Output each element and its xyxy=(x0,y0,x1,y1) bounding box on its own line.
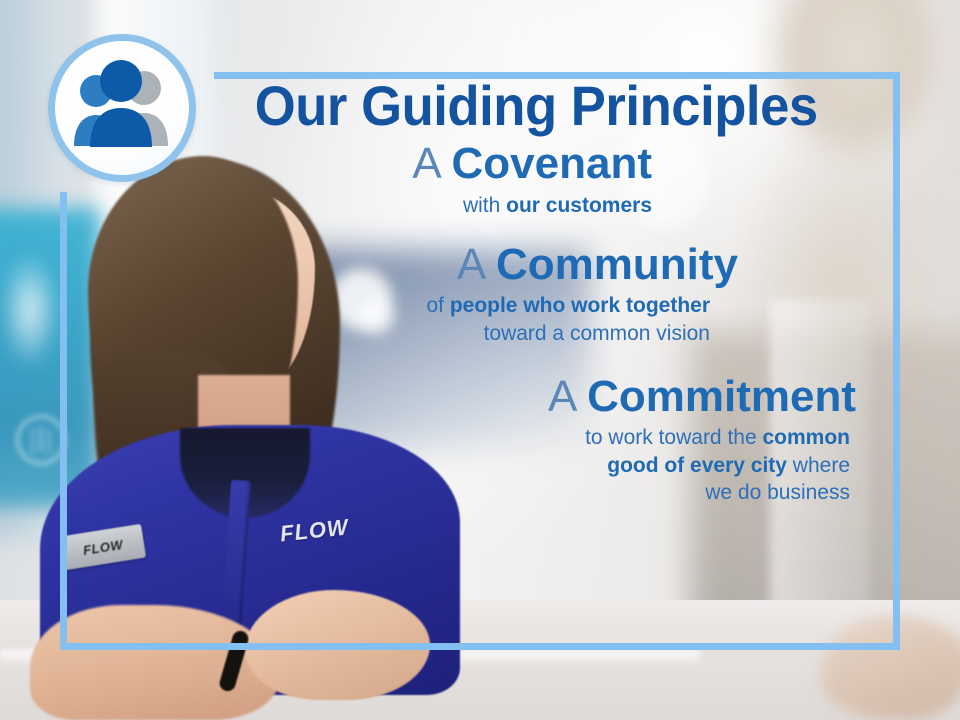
principle-keyword: Covenant xyxy=(452,139,652,188)
principle-subtitle: of people who work togethertoward a comm… xyxy=(200,292,738,347)
people-group-icon xyxy=(68,58,176,158)
text-block: Our Guiding Principles A Covenant with o… xyxy=(200,78,880,506)
principle-covenant: A Covenant with our customers xyxy=(200,140,880,219)
principle-commitment: A Commitment to work toward the commongo… xyxy=(200,373,880,506)
subtitle-line: good of every city where xyxy=(200,452,850,479)
subtitle-emphasis: common xyxy=(762,426,850,449)
subtitle-text: to work toward the xyxy=(585,426,762,449)
subtitle-emphasis: good of every city xyxy=(607,454,787,477)
subtitle-text: of xyxy=(426,294,449,317)
principle-title: A Community xyxy=(200,241,738,289)
principle-article: A xyxy=(412,139,439,188)
subtitle-text: toward a common vision xyxy=(484,322,710,345)
principle-keyword: Commitment xyxy=(587,372,856,421)
principle-keyword: Community xyxy=(496,240,738,289)
blurred-customer-hand xyxy=(820,615,960,720)
subtitle-text: where xyxy=(787,454,850,477)
subtitle-emphasis: our customers xyxy=(506,194,652,217)
clasped-hands xyxy=(245,590,430,700)
subtitle-line: toward a common vision xyxy=(200,320,710,347)
subtitle-text: with xyxy=(463,194,506,217)
subtitle-line: with our customers xyxy=(200,192,652,219)
principle-title: A Covenant xyxy=(200,140,652,188)
principle-title: A Commitment xyxy=(200,373,856,421)
subtitle-line: we do business xyxy=(200,479,850,506)
principle-article: A xyxy=(548,372,575,421)
subtitle-line: of people who work together xyxy=(200,292,710,319)
poster-canvas: FLOW FLOW Our Guiding Principle xyxy=(0,0,960,720)
name-badge-logo-text: FLOW xyxy=(82,537,124,556)
subtitle-text: we do business xyxy=(705,481,850,504)
principle-community: A Community of people who work togethert… xyxy=(200,241,880,347)
principle-subtitle: with our customers xyxy=(200,192,652,219)
principle-subtitle: to work toward the commongood of every c… xyxy=(200,424,856,506)
page-title: Our Guiding Principles xyxy=(220,78,859,134)
subtitle-emphasis: people who work together xyxy=(450,294,710,317)
principle-article: A xyxy=(457,240,484,289)
subtitle-line: to work toward the common xyxy=(200,424,850,451)
